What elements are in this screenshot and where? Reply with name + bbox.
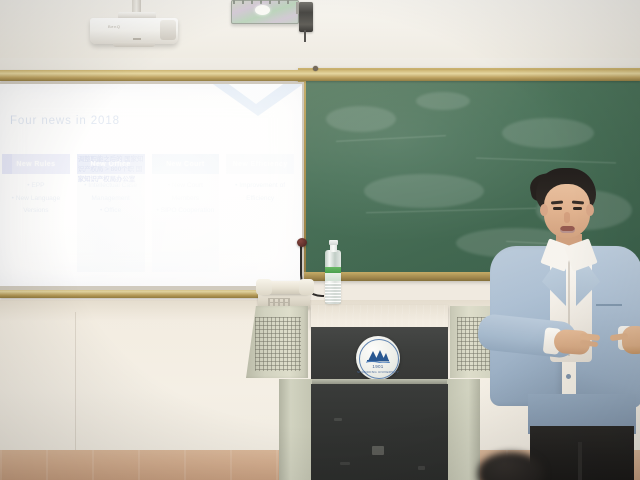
trouser-leg-split <box>578 442 582 480</box>
bullet: • EPP <box>5 180 67 193</box>
pocket-square <box>600 294 617 306</box>
rail-screw <box>313 66 318 71</box>
slide-column-4-header: New Efficiency <box>226 154 294 174</box>
telephone-keypad <box>268 298 290 307</box>
jacket-button <box>566 374 571 379</box>
podium-wood-grain <box>311 305 448 327</box>
slide-chevron-inner <box>226 84 286 104</box>
ceiling-camera-box <box>299 2 313 32</box>
bullet: • New Court Members <box>155 180 217 205</box>
emblem-year: 1901 <box>356 364 400 369</box>
slide-column-4-body: • Improvement of Efficiency <box>226 174 294 272</box>
bottle-label <box>325 267 341 281</box>
handset-earpiece <box>256 279 272 295</box>
podium-left-leg <box>279 379 312 480</box>
slide-column-3-header: New Court <box>152 154 220 174</box>
ear-right <box>586 204 594 216</box>
bullet: • New Language Versions <box>5 193 67 218</box>
podium-lower-panel <box>311 384 448 480</box>
lecture-hall-photo: Four news in 2018 New Rules • EPP • New … <box>0 0 640 480</box>
university-emblem: 1901 SHANDONG UNIVERSITY <box>356 336 400 380</box>
podium-speaker-grill-left <box>255 317 301 371</box>
slide-column-4: New Efficiency • Improvement of Efficien… <box>226 154 294 272</box>
projection-screen: Four news in 2018 New Rules • EPP • New … <box>0 84 302 286</box>
trousers <box>530 426 634 480</box>
hand-right-gesture <box>622 326 640 354</box>
upper-gold-rail <box>0 70 640 81</box>
bullet: • Office <box>80 205 142 218</box>
slide-columns: New Rules • EPP • New Language Versions … <box>2 154 294 272</box>
bullet: • SIPO Cooperation <box>155 205 217 218</box>
fixture-mount-clips <box>233 0 295 4</box>
slide-column-2-body: • Intellectual Case Management • Office <box>77 174 145 272</box>
ear-left <box>540 204 548 216</box>
slide-title: Four news in 2018 <box>10 115 120 127</box>
mouth-speaking <box>560 226 575 233</box>
bullet: • Improvement of Efficiency <box>229 180 291 205</box>
wall-seam <box>75 312 76 452</box>
handset-mouthpiece <box>299 279 314 295</box>
projector-brand-label: BenQ <box>108 24 121 29</box>
projector-led-strip <box>133 38 141 40</box>
projector-foot <box>113 42 155 47</box>
fixture-lamp-spot <box>255 5 270 15</box>
speaker-person <box>468 168 640 480</box>
bottle-cap <box>329 240 338 245</box>
emblem-university-name: SHANDONG UNIVERSITY <box>356 370 400 374</box>
slide-column-1-body: • EPP • New Language Versions <box>2 174 70 272</box>
eye-left <box>553 207 562 210</box>
slide-column-3: New Court • New Court Members • SIPO Coo… <box>152 154 220 272</box>
microphone-head-icon <box>297 238 307 247</box>
bottle-ribs <box>325 283 341 304</box>
ceiling-cable <box>304 30 306 42</box>
nose <box>564 212 570 223</box>
slide-column-2: New Office 调整职能之后的 国家知识产权局 > 800个职 国家知识产… <box>77 154 145 272</box>
slide-column-3-body: • New Court Members • SIPO Cooperation <box>152 174 220 272</box>
emblem-mountain-icon <box>366 348 390 363</box>
slide-chinese-overlay: 调整职能之后的 国家知识产权局 > 800个职 国家知识产权局办公室 <box>78 155 146 185</box>
eye-right <box>573 207 582 210</box>
projector-lens <box>160 20 176 40</box>
slide-column-1-header: New Rules <box>2 154 70 174</box>
slide-column-1: New Rules • EPP • New Language Versions <box>2 154 70 272</box>
